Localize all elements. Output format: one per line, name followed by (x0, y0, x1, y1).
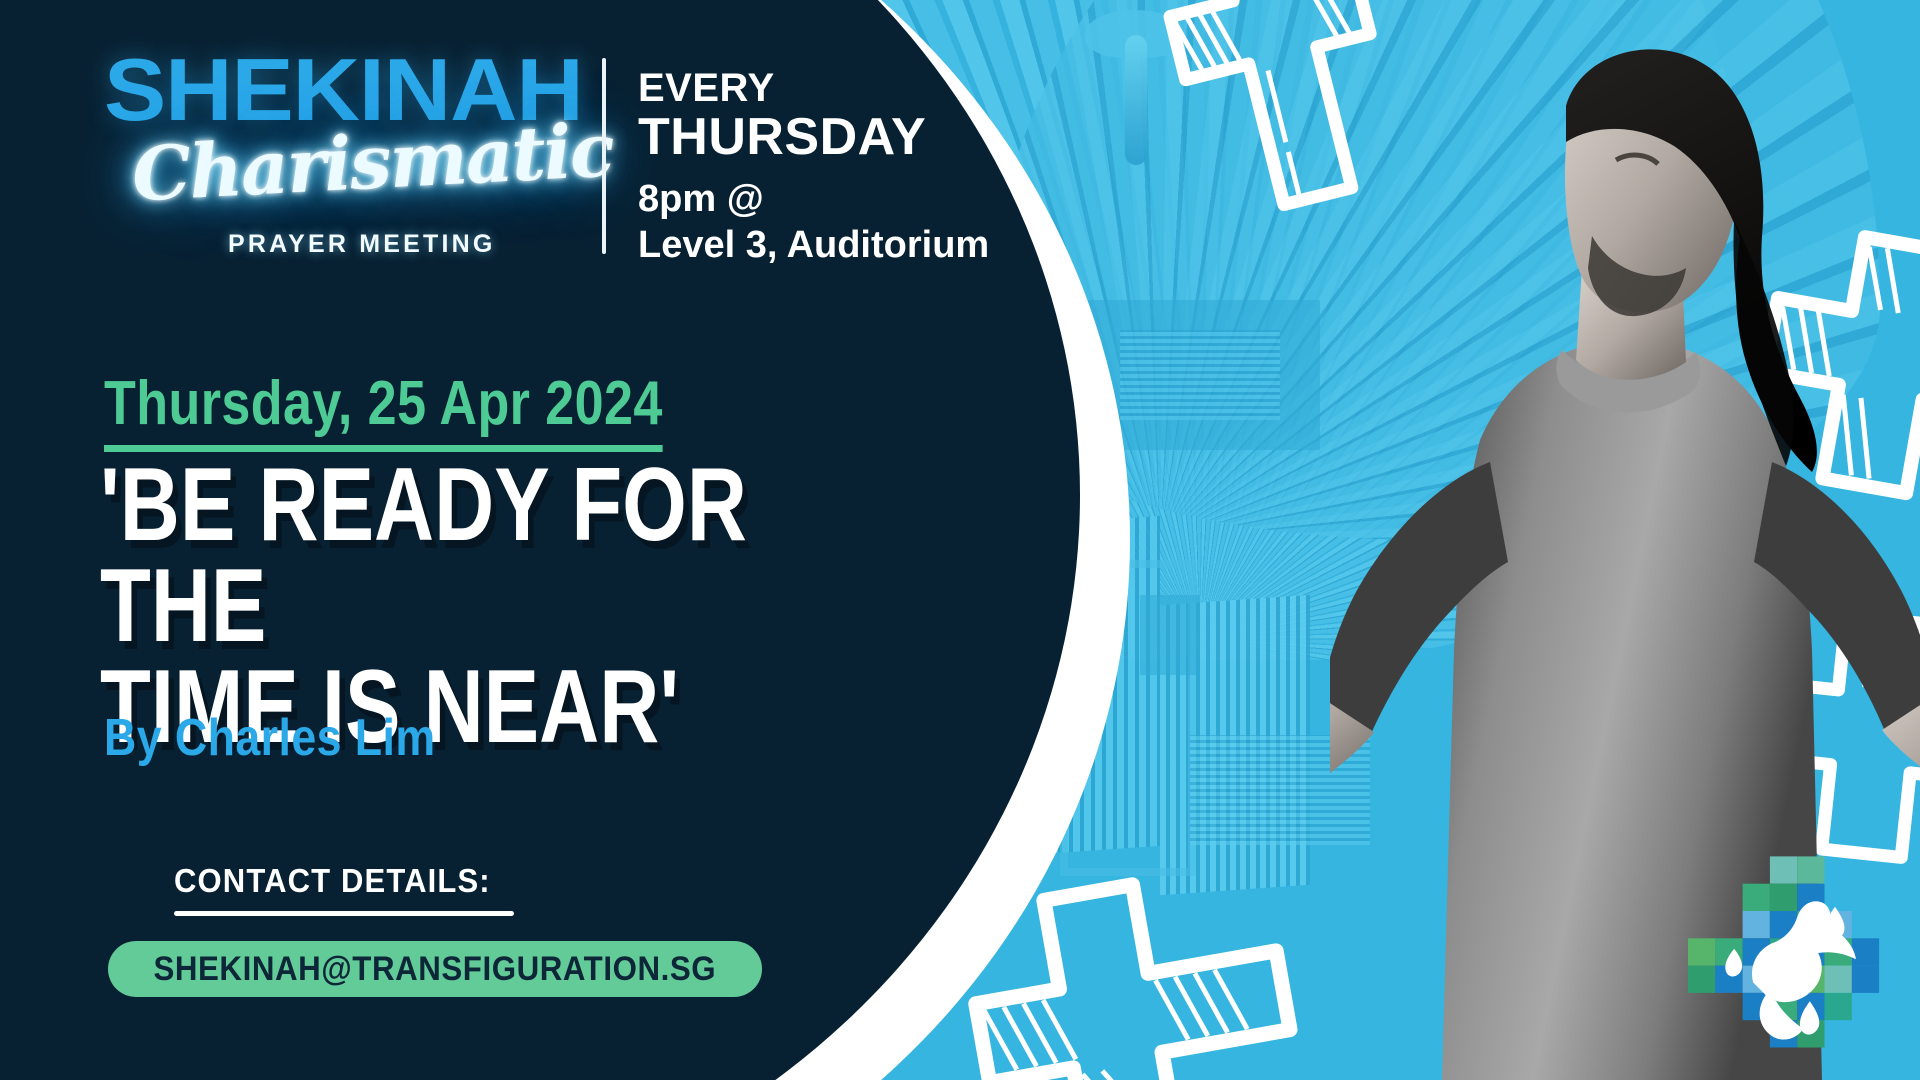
church-cross-dove-logo-icon (1688, 848, 1898, 1058)
church-wall-fixture (1140, 595, 1200, 675)
event-poster: SHEKINAH Charismatic PRAYER MEETING EVER… (0, 0, 1920, 1080)
schedule-every: EVERY (638, 66, 989, 111)
schedule-time: 8pm @ (638, 176, 989, 224)
event-speaker: By Charles Lim (104, 708, 436, 768)
contact-details-label: CONTACT DETAILS: (174, 862, 491, 900)
contact-email-pill[interactable]: SHEKINAH@TRANSFIGURATION.SG (108, 941, 762, 997)
contact-email-text: SHEKINAH@TRANSFIGURATION.SG (154, 950, 717, 989)
poster-content: SHEKINAH Charismatic PRAYER MEETING EVER… (0, 0, 1060, 1080)
schedule-divider-rule (602, 58, 606, 254)
brand-logo-lockup: SHEKINAH Charismatic PRAYER MEETING (104, 48, 604, 132)
event-date: Thursday, 25 Apr 2024 (104, 368, 663, 452)
church-louver-vent (1120, 330, 1280, 420)
schedule-day: THURSDAY (638, 109, 989, 166)
schedule-block: EVERY THURSDAY 8pm @ Level 3, Auditorium (638, 66, 989, 269)
brand-subtitle-prayer-meeting: PRAYER MEETING (228, 230, 496, 259)
contact-underline-rule (174, 911, 514, 916)
schedule-venue: Level 3, Auditorium (638, 223, 989, 269)
